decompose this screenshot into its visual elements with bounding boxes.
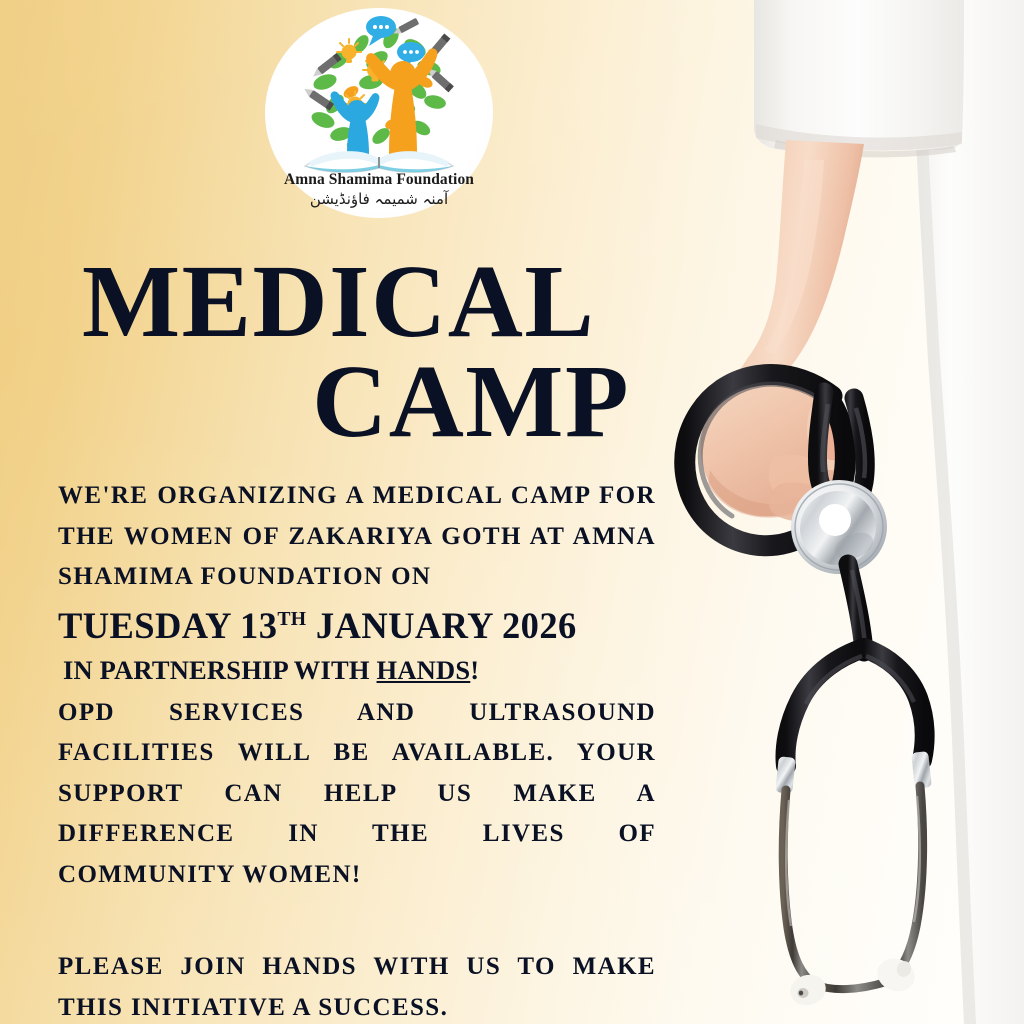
doctor-hand-stethoscope-photo: [664, 0, 1024, 1024]
call-to-action-paragraph: PLEASE JOIN HANDS WITH US TO MAKE THIS I…: [58, 947, 656, 1024]
binaural-arm-left-black: [786, 648, 864, 766]
poster-canvas: Amna Shamima Foundation آمنہ شمیمہ فاؤنڈ…: [0, 0, 1024, 1024]
event-date-suffix: JANUARY 2026: [306, 605, 576, 646]
poster-text-content: MEDICAL CAMP WE'RE ORGANIZING A MEDICAL …: [0, 0, 700, 1024]
partnership-suffix: !: [470, 655, 479, 685]
partnership-line: IN PARTNERSHIP WITH HANDS!: [58, 653, 656, 687]
partnership-prefix: IN PARTNERSHIP WITH: [63, 655, 377, 685]
event-date-ordinal: TH: [277, 607, 306, 629]
binaural-metal-right: [886, 786, 923, 982]
binaural-arm-right-black: [864, 648, 925, 760]
partner-name: HANDS: [377, 655, 471, 685]
services-paragraph: OPD SERVICES AND ULTRASOUND FACILITIES W…: [58, 693, 656, 896]
coat-sleeve: [754, 0, 964, 150]
ear-tip-right: [873, 953, 920, 996]
ear-tip-left: [786, 970, 830, 1010]
page-title-line-2: CAMP: [82, 352, 630, 452]
chestpiece-center-highlight: [819, 504, 851, 536]
intro-paragraph: WE'RE ORGANIZING A MEDICAL CAMP FOR THE …: [58, 476, 656, 598]
poster-body: WE'RE ORGANIZING A MEDICAL CAMP FOR THE …: [58, 476, 656, 1024]
page-title-line-1: MEDICAL: [82, 252, 630, 352]
event-date-prefix: TUESDAY 13: [58, 605, 277, 646]
event-date: TUESDAY 13TH JANUARY 2026: [58, 603, 656, 650]
ear-tip-left-bore: [799, 991, 803, 996]
page-title: MEDICAL CAMP: [82, 252, 630, 452]
